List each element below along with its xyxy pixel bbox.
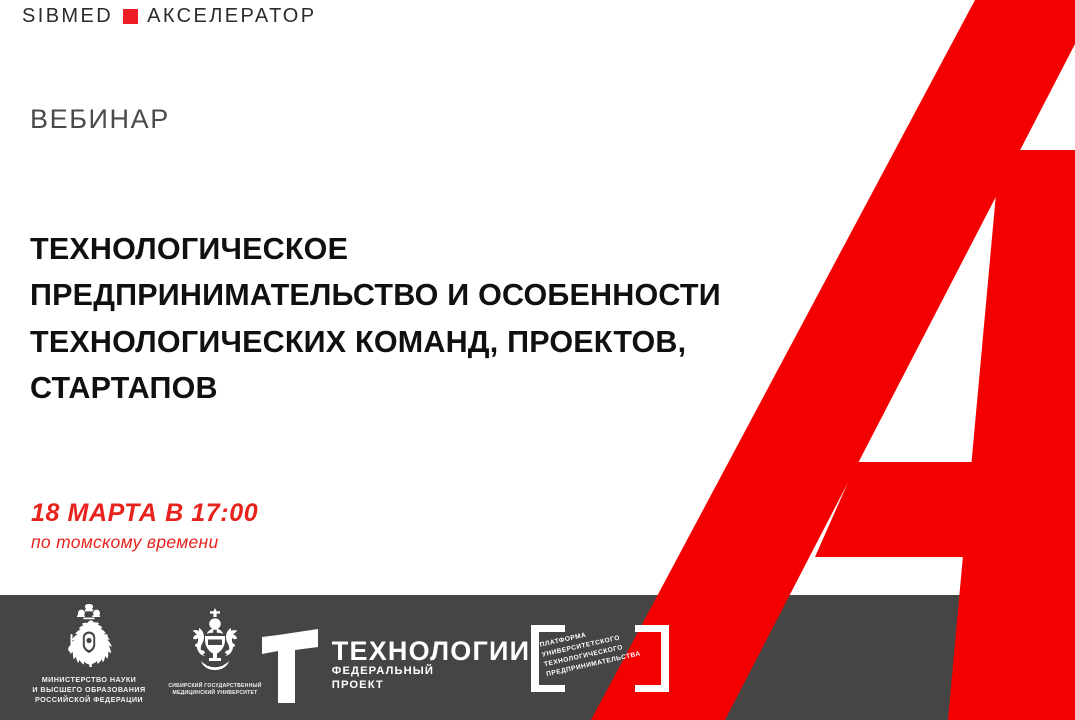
event-date-time: 18 МАРТА В 17:00 — [31, 498, 258, 529]
page-title: ТЕХНОЛОГИЧЕСКОЕ ПРЕДПРИНИМАТЕЛЬСТВО И ОС… — [30, 226, 820, 411]
logo-ministry-caption: МИНИСТЕРСТВО НАУКИ И ВЫСШЕГО ОБРАЗОВАНИЯ… — [32, 675, 145, 706]
partner-logo-row: МИНИСТЕРСТВО НАУКИ И ВЫСШЕГО ОБРАЗОВАНИЯ… — [0, 595, 1075, 720]
brand-name-sibmed: SIBMED — [22, 6, 113, 26]
logo-utech-platform: ПЛАТФОРМА УНИВЕРСИТЕТСКОГО ТЕХНОЛОГИЧЕСК… — [525, 623, 675, 695]
event-datetime: 18 МАРТА В 17:00 по томскому времени — [31, 498, 258, 554]
tech-logo-sub-line-2: ПРОЕКТ — [332, 679, 530, 693]
numeral-one-mark-icon — [260, 627, 320, 703]
event-type-label: ВЕБИНАР — [30, 104, 170, 135]
headline-line-4: СТАРТАПОВ — [30, 365, 820, 411]
logo-ssmu: СИБИРСКИЙ ГОСУДАРСТВЕННЫЙ МЕДИЦИНСКИЙ УН… — [160, 606, 270, 697]
brand-name-accelerator: АКСЕЛЕРАТОР — [147, 6, 316, 26]
ministry-caption-line-3: РОССИЙСКОЙ ФЕДЕРАЦИИ — [32, 695, 145, 705]
logo-federal-project-technologies: ТЕХНОЛОГИИ ФЕДЕРАЛЬНЫЙ ПРОЕКТ — [272, 627, 518, 703]
ministry-caption-line-1: МИНИСТЕРСТВО НАУКИ — [32, 675, 145, 685]
ministry-caption-line-2: И ВЫСШЕГО ОБРАЗОВАНИЯ — [32, 685, 145, 695]
siberian-state-medical-university-crest-icon — [183, 606, 247, 678]
headline-line-1: ТЕХНОЛОГИЧЕСКОЕ — [30, 226, 820, 272]
event-timezone-note: по томскому времени — [31, 532, 258, 554]
tech-logo-sub-line-1: ФЕДЕРАЛЬНЫЙ — [332, 665, 530, 679]
tech-logo-title: ТЕХНОЛОГИИ — [332, 636, 530, 666]
logo-ssmu-caption: СИБИРСКИЙ ГОСУДАРСТВЕННЫЙ МЕДИЦИНСКИЙ УН… — [168, 683, 261, 697]
headline-line-2: ПРЕДПРИНИМАТЕЛЬСТВО И ОСОБЕННОСТИ — [30, 272, 820, 318]
bracket-frame-icon — [525, 682, 675, 699]
ssmu-caption-line-2: МЕДИЦИНСКИЙ УНИВЕРСИТЕТ — [168, 690, 261, 697]
poster-canvas: SIBMED АКСЕЛЕРАТОР ВЕБИНАР ТЕХНОЛОГИЧЕСК… — [0, 0, 1075, 720]
ssmu-caption-line-1: СИБИРСКИЙ ГОСУДАРСТВЕННЫЙ — [168, 683, 261, 690]
brand-lockup: SIBMED АКСЕЛЕРАТОР — [22, 6, 317, 26]
russian-federation-coat-of-arms-icon — [53, 604, 125, 670]
headline-line-3: ТЕХНОЛОГИЧЕСКИХ КОМАНД, ПРОЕКТОВ, — [30, 319, 820, 365]
red-square-icon — [123, 9, 138, 24]
logo-ministry-of-science: МИНИСТЕРСТВО НАУКИ И ВЫСШЕГО ОБРАЗОВАНИЯ… — [14, 604, 164, 706]
